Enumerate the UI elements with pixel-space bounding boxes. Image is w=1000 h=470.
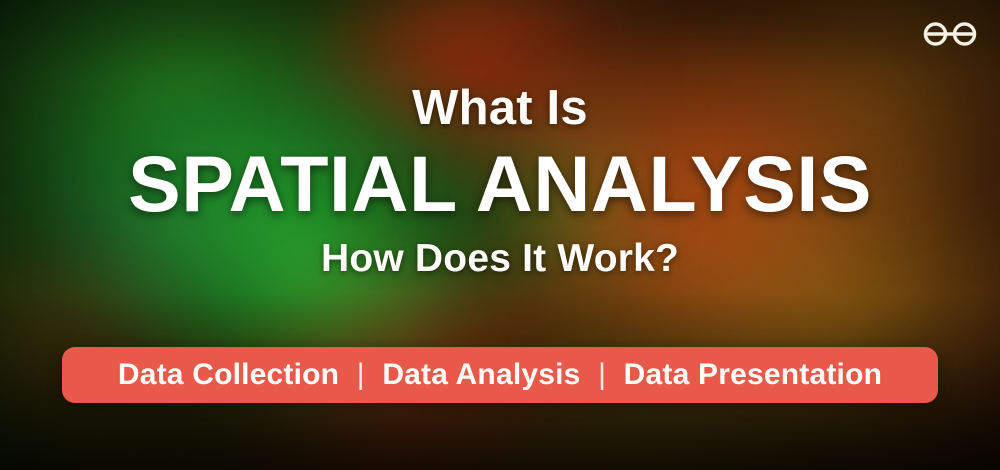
page-title: SPATIAL ANALYSIS xyxy=(128,144,872,223)
subtitle-text: How Does It Work? xyxy=(321,239,679,278)
eyebrow-text: What Is xyxy=(412,84,588,133)
topic-separator-1: | xyxy=(357,358,365,392)
topic-separator-2: | xyxy=(598,358,606,392)
topic-data-presentation: Data Presentation xyxy=(624,358,882,391)
topics-bar-label: Data Collection | Data Analysis | Data P… xyxy=(118,358,882,392)
topics-bar: Data Collection | Data Analysis | Data P… xyxy=(62,347,938,403)
topic-data-collection: Data Collection xyxy=(118,358,339,391)
topic-data-analysis: Data Analysis xyxy=(382,358,580,391)
spatial-analysis-banner: What Is SPATIAL ANALYSIS How Does It Wor… xyxy=(0,0,1000,470)
geeksforgeeks-logo-icon xyxy=(922,14,978,54)
